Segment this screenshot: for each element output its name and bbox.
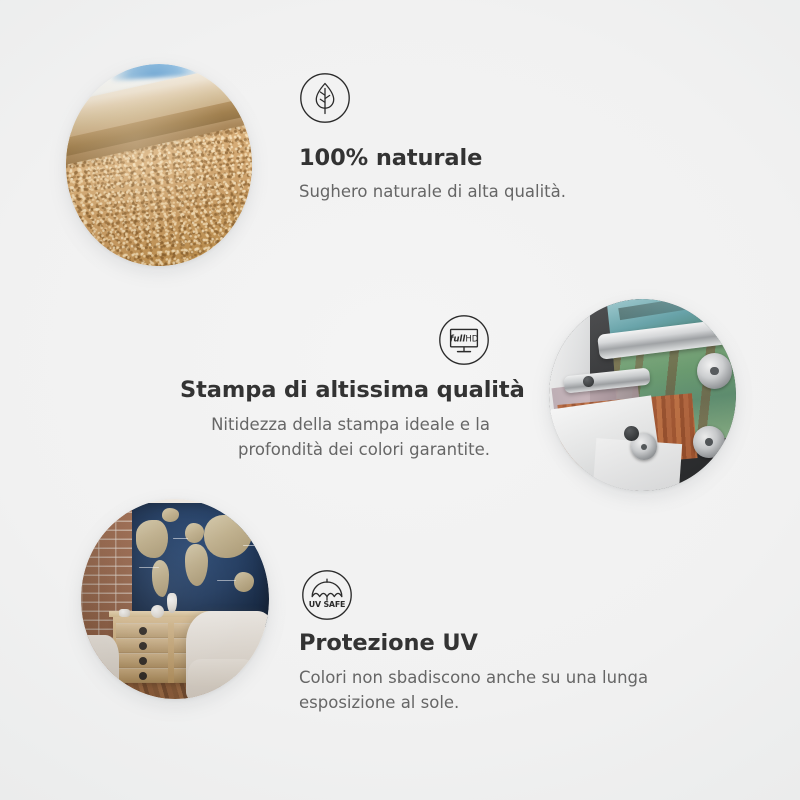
printing-machine-photo bbox=[549, 299, 736, 491]
printer-photo-inner bbox=[549, 299, 736, 491]
leaf-icon bbox=[299, 72, 351, 124]
feature-highlights-page: 100% naturale Sughero naturale di alta q… bbox=[0, 0, 800, 800]
feature-natural-title: 100% naturale bbox=[299, 143, 566, 173]
room-world-map-mural-photo bbox=[81, 499, 269, 699]
feature-print-quality-title: Stampa di altissima qualità bbox=[180, 375, 490, 405]
svg-text:UV SAFE: UV SAFE bbox=[309, 600, 345, 609]
svg-text:fullHD: fullHD bbox=[450, 334, 479, 344]
feature-print-quality-description-line-2: profondità dei colori garantite. bbox=[238, 440, 490, 459]
feature-uv-protection-text-block: Protezione UV Colori non sbadiscono anch… bbox=[299, 628, 669, 715]
feature-uv-protection-description: Colori non sbadiscono anche su una lunga… bbox=[299, 665, 669, 715]
uv-safe-umbrella-icon: UV SAFE bbox=[301, 569, 353, 621]
feature-uv-protection-title: Protezione UV bbox=[299, 628, 669, 658]
feature-uv-protection-description-line-2: esposizione al sole. bbox=[299, 693, 459, 712]
cork-photo-shading bbox=[66, 64, 252, 266]
cork-photo-inner bbox=[66, 64, 252, 266]
room-photo-shading bbox=[81, 499, 269, 699]
feature-natural-description: Sughero naturale di alta qualità. bbox=[299, 180, 566, 204]
feature-natural-text-block: 100% naturale Sughero naturale di alta q… bbox=[299, 143, 566, 204]
feature-uv-protection-description-line-1: Colori non sbadiscono anche su una lunga bbox=[299, 668, 648, 687]
fullhd-monitor-icon: fullHD bbox=[438, 314, 490, 366]
cork-board-macro-photo bbox=[66, 64, 252, 266]
feature-print-quality-description-line-1: Nitidezza della stampa ideale e la bbox=[211, 415, 490, 434]
printer-photo-shading bbox=[549, 299, 736, 491]
room-photo-inner bbox=[81, 499, 269, 699]
feature-print-quality-description: Nitidezza della stampa ideale e la profo… bbox=[180, 412, 490, 462]
feature-print-quality-text-block: Stampa di altissima qualità Nitidezza de… bbox=[180, 375, 490, 462]
